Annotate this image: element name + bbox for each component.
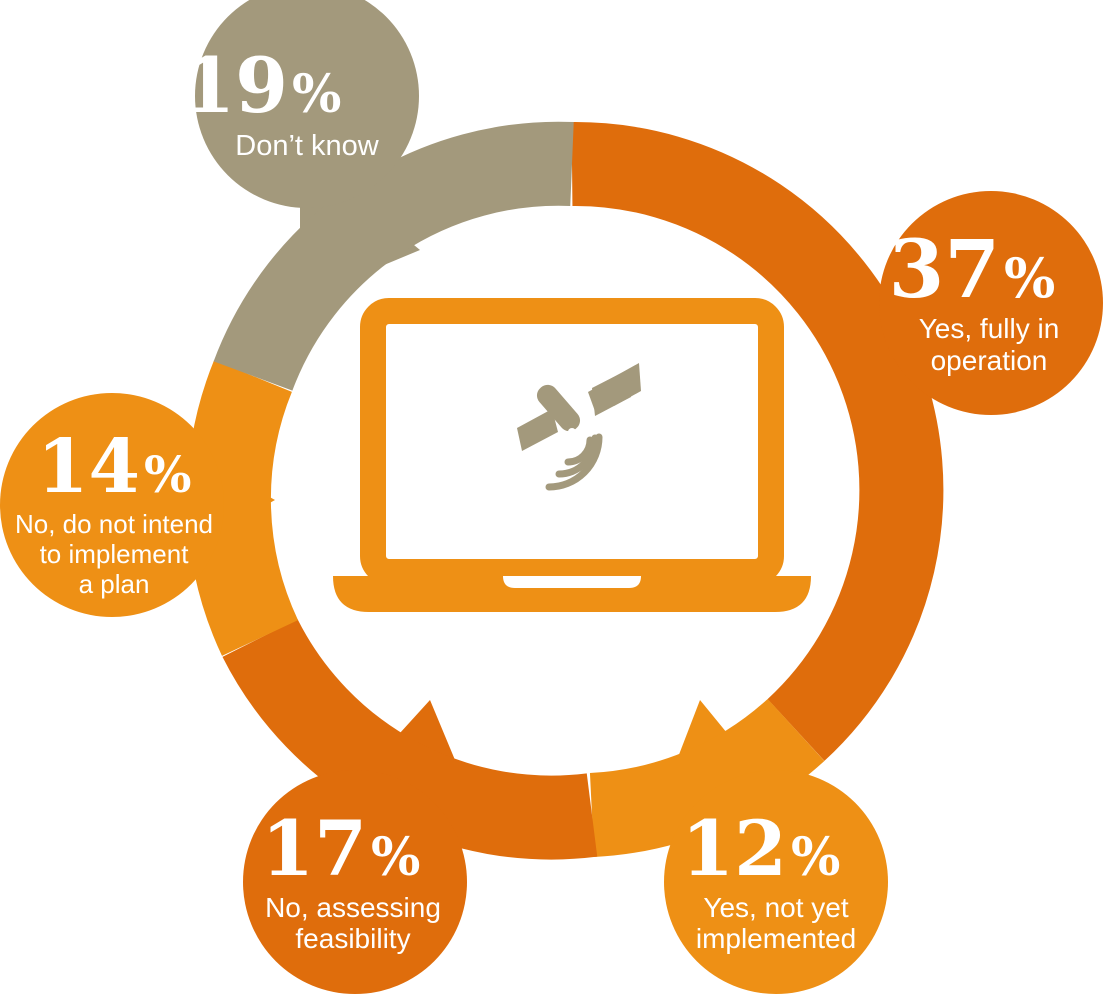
satellite-port-dot xyxy=(568,428,576,436)
laptop-base-notch xyxy=(503,576,641,588)
bubble-no-assessing-feasibility-label-line-1: No, assessing xyxy=(265,892,441,923)
bubble-no-do-not-intend-percent-sign: % xyxy=(144,445,192,504)
bubble-yes-not-yet-implemented-percent: 12 xyxy=(681,804,787,893)
bubble-no-assessing-feasibility-label-line-2: feasibility xyxy=(295,923,410,954)
bubble-no-assessing-feasibility-percent: 17 xyxy=(261,804,367,893)
donut-slice-no-do-not-intend xyxy=(229,376,260,638)
bubble-no-assessing-feasibility[interactable]: 17 % No, assessing feasibility xyxy=(243,770,467,994)
bubble-yes-fully-in-operation-label-line-2: operation xyxy=(931,345,1048,376)
bubble-no-assessing-feasibility-percent-sign: % xyxy=(371,827,420,888)
bubble-dont-know[interactable]: 19 % Don’t know xyxy=(182,0,419,208)
bubble-yes-fully-in-operation[interactable]: 37 % Yes, fully in operation xyxy=(879,191,1103,415)
bubble-dont-know-percent: 19 xyxy=(182,41,288,130)
bubble-no-do-not-intend-percent: 14 xyxy=(37,424,140,510)
bubble-no-do-not-intend-label-line-3: a plan xyxy=(79,569,150,599)
bubble-dont-know-label-line-1: Don’t know xyxy=(235,130,380,162)
bubble-yes-fully-in-operation-percent: 37 xyxy=(889,222,1000,316)
donut-ring xyxy=(229,164,901,818)
bubble-yes-not-yet-implemented-percent-sign: % xyxy=(791,827,840,888)
bubble-yes-fully-in-operation-percent-sign: % xyxy=(1004,246,1055,310)
bubble-no-do-not-intend-label-line-2: to implement xyxy=(40,539,190,569)
bubble-yes-not-yet-implemented[interactable]: 12 % Yes, not yet implemented xyxy=(664,770,888,994)
laptop-screen-bezel xyxy=(373,311,771,572)
infographic-canvas: 19 % Don’t know 37 % Yes, fully in opera… xyxy=(0,0,1103,1003)
satellite-solar-panel-upper xyxy=(588,370,635,414)
bubble-dont-know-percent-sign: % xyxy=(292,64,341,125)
donut-chart-infographic: 19 % Don’t know 37 % Yes, fully in opera… xyxy=(0,0,1103,1003)
bubble-yes-not-yet-implemented-label-line-2: implemented xyxy=(696,923,856,954)
bubble-no-do-not-intend[interactable]: 14 % No, do not intend to implement a pl… xyxy=(0,393,224,617)
bubble-yes-not-yet-implemented-label-line-1: Yes, not yet xyxy=(703,892,849,923)
bubble-yes-fully-in-operation-label-line-1: Yes, fully in xyxy=(919,313,1060,344)
laptop-satellite-icon xyxy=(333,311,811,612)
satellite-glyph xyxy=(517,363,641,487)
bubble-no-do-not-intend-label-line-1: No, do not intend xyxy=(15,509,213,539)
donut-slice-yes-fully-in-operation xyxy=(572,164,901,730)
